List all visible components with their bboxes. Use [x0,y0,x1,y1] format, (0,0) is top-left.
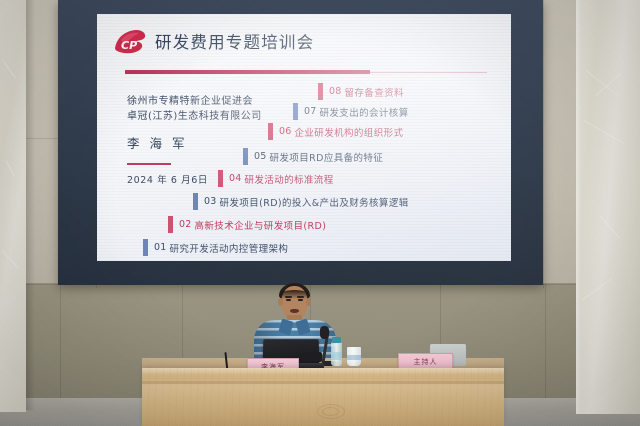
agenda-item-number: 08 [329,86,342,97]
agenda-item-bar [268,123,273,140]
agenda-item-number: 03 [204,196,217,207]
microphone-head [320,326,329,339]
agenda-item-label: 研发项目RD应具备的特征 [270,150,384,164]
agenda-item-bar [168,216,173,233]
speaker-hair-shading [280,290,309,299]
agenda-item-05: 05研发项目RD应具备的特征 [243,148,383,165]
pillar-right [576,0,640,414]
water-bottle-cap [332,337,341,343]
agenda-item-number: 01 [154,242,167,253]
agenda-item-label: 研发活动的标准流程 [245,172,334,186]
wall-seam [60,284,61,404]
agenda-item-02: 02高新技术企业与研发项目(RD) [168,216,326,233]
agenda-item-06: 06企业研发机构的组织形式 [268,123,403,140]
name-placard-moderator-label: 主持人 [414,357,438,367]
agenda-item-number: 05 [254,151,267,162]
agenda-item-number: 02 [179,219,192,230]
agenda-item-bar [243,148,248,165]
speaker-brow-left [285,296,292,298]
podium-wood-knot [322,407,339,416]
pillar-left-shadow [26,0,35,410]
speaker-mouth [290,309,299,313]
agenda-item-number: 04 [229,173,242,184]
agenda-item-number: 06 [279,126,292,137]
agenda-item-01: 01研究开发活动内控管理架构 [143,239,288,256]
speaker-ear-right [306,298,311,306]
agenda-item-08: 08留存备查资料 [318,83,404,100]
paper-cup-band [347,355,361,360]
agenda-item-label: 研究开发活动内控管理架构 [170,241,289,255]
agenda-item-label: 研发支出的会计核算 [320,105,409,119]
wall-seam [543,0,544,288]
presentation-slide: CP 研发费用专题培训会 徐州市专精特新企业促进会 卓冠(江苏)生态科技有限公司… [97,14,511,261]
agenda-item-number: 07 [304,106,317,117]
agenda-item-label: 留存备查资料 [345,85,404,99]
speaker-ear-left [278,298,283,306]
dark-desk-object [300,352,322,362]
water-bottle-label [331,352,342,360]
pillar-left [0,0,26,412]
agenda-item-bar [193,193,198,210]
agenda-item-label: 企业研发机构的组织形式 [295,125,404,139]
agenda-item-bar [293,103,298,120]
agenda-item-03: 03研发项目(RD)的投入&产出及财务核算逻辑 [193,193,409,210]
wall-seam [545,284,546,404]
agenda-item-label: 研发项目(RD)的投入&产出及财务核算逻辑 [220,195,409,209]
agenda-item-04: 04研发活动的标准流程 [218,170,334,187]
agenda-item-label: 高新技术企业与研发项目(RD) [195,218,327,232]
wooden-podium [142,368,504,426]
agenda-list: 08留存备查资料07研发支出的会计核算06企业研发机构的组织形式05研发项目RD… [97,14,511,261]
agenda-item-bar [218,170,223,187]
agenda-item-07: 07研发支出的会计核算 [293,103,409,120]
agenda-item-bar [318,83,323,100]
agenda-item-bar [143,239,148,256]
conference-room-photo: CP 研发费用专题培训会 徐州市专精特新企业促进会 卓冠(江苏)生态科技有限公司… [0,0,640,426]
speaker-brow-right [297,296,304,298]
